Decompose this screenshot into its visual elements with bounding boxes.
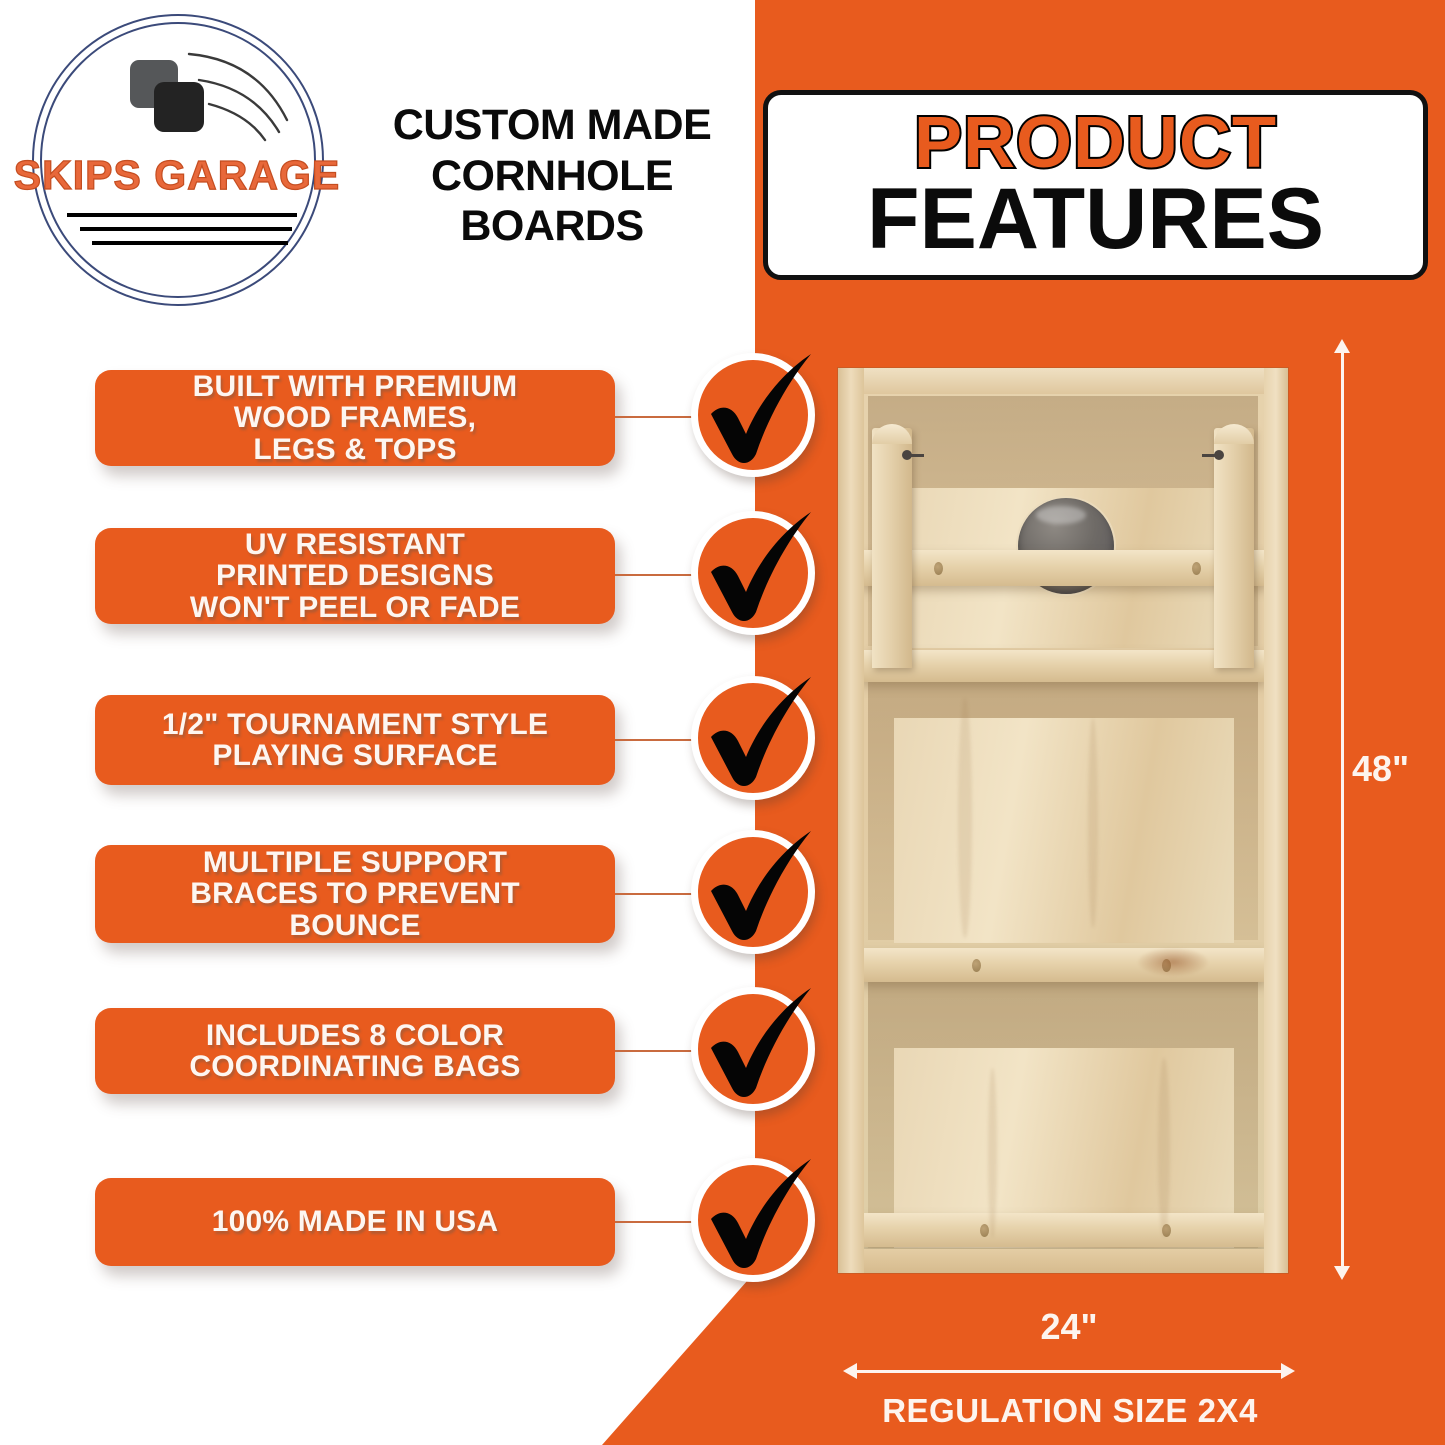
regulation-size-caption: REGULATION SIZE 2X4 [830, 1392, 1310, 1430]
screw [1192, 562, 1201, 575]
check-icon [676, 494, 836, 654]
infographic-canvas: SKIPS GARAGE CUSTOM MADE CORNHOLE BOARDS… [0, 0, 1445, 1445]
logo-rule-3 [92, 241, 288, 245]
screw [934, 562, 943, 575]
leg-bolt-stem [1202, 454, 1216, 457]
feature-check-circle-6 [691, 1158, 815, 1282]
check-icon [676, 1141, 836, 1301]
leg-bolt-stem [910, 454, 924, 457]
check-icon [676, 659, 836, 819]
feature-item-1: BUILT WITH PREMIUM WOOD FRAMES, LEGS & T… [95, 370, 825, 480]
feature-pill-5[interactable]: INCLUDES 8 COLOR COORDINATING BAGS [95, 1008, 615, 1094]
wood-knot [1138, 948, 1208, 976]
support-brace-4 [862, 1213, 1266, 1247]
feature-pill-3[interactable]: 1/2" TOURNAMENT STYLE PLAYING SURFACE [95, 695, 615, 785]
frame-rail-top [838, 368, 1288, 394]
support-brace-1 [862, 550, 1266, 586]
wood-grain [958, 698, 972, 938]
feature-check-circle-3 [691, 676, 815, 800]
logo-rule-1 [67, 213, 297, 217]
logo-rule-2 [80, 227, 292, 231]
feature-label-2: UV RESISTANT PRINTED DESIGNS WON'T PEEL … [190, 529, 520, 623]
check-icon [676, 813, 836, 973]
check-icon [676, 336, 836, 496]
feature-item-3: 1/2" TOURNAMENT STYLE PLAYING SURFACE [95, 695, 825, 805]
folding-leg-right [1214, 428, 1254, 668]
feature-label-5: INCLUDES 8 COLOR COORDINATING BAGS [189, 1020, 520, 1082]
feature-item-6: 100% MADE IN USA [95, 1178, 825, 1288]
wood-grain [988, 1068, 997, 1238]
wood-grain [1158, 1058, 1170, 1238]
cornhole-board-photo [838, 368, 1288, 1273]
feature-check-circle-4 [691, 830, 815, 954]
frame-rail-right [1264, 368, 1288, 1273]
height-dimension-label: 48" [1352, 748, 1409, 790]
feature-label-3: 1/2" TOURNAMENT STYLE PLAYING SURFACE [162, 709, 548, 771]
frame-rail-left [838, 368, 864, 1273]
arrow-down-icon [1334, 1266, 1350, 1280]
feature-label-6: 100% MADE IN USA [212, 1206, 499, 1237]
width-dimension-label: 24" [856, 1306, 1282, 1348]
height-dimension-arrow [1341, 352, 1344, 1267]
support-brace-2 [862, 650, 1266, 682]
product-features-banner: PRODUCT FEATURES [763, 90, 1428, 280]
arrow-left-icon [843, 1363, 857, 1379]
feature-label-1: BUILT WITH PREMIUM WOOD FRAMES, LEGS & T… [193, 371, 518, 465]
banner-line-features: FEATURES [867, 179, 1324, 261]
logo-wordmark: SKIPS GARAGE [12, 152, 342, 199]
feature-pill-2[interactable]: UV RESISTANT PRINTED DESIGNS WON'T PEEL … [95, 528, 615, 624]
feature-pill-4[interactable]: MULTIPLE SUPPORT BRACES TO PREVENT BOUNC… [95, 845, 615, 943]
width-dimension-arrow [856, 1370, 1282, 1373]
feature-label-4: MULTIPLE SUPPORT BRACES TO PREVENT BOUNC… [190, 847, 520, 941]
check-icon [676, 970, 836, 1130]
wood-grain [1088, 718, 1098, 928]
feature-pill-6[interactable]: 100% MADE IN USA [95, 1178, 615, 1266]
screw [980, 1224, 989, 1237]
feature-check-circle-1 [691, 353, 815, 477]
frame-rail-bottom [838, 1249, 1288, 1273]
feature-item-5: INCLUDES 8 COLOR COORDINATING BAGS [95, 1008, 825, 1118]
arrow-up-icon [1334, 339, 1350, 353]
feature-item-4: MULTIPLE SUPPORT BRACES TO PREVENT BOUNC… [95, 845, 825, 955]
feature-pill-1[interactable]: BUILT WITH PREMIUM WOOD FRAMES, LEGS & T… [95, 370, 615, 466]
hole-highlight [1036, 506, 1086, 524]
feature-item-2: UV RESISTANT PRINTED DESIGNS WON'T PEEL … [95, 528, 825, 638]
motion-arcs-icon [187, 48, 297, 148]
banner-line-product: PRODUCT [914, 109, 1277, 177]
page-title: CUSTOM MADE CORNHOLE BOARDS [352, 100, 752, 252]
arrow-right-icon [1281, 1363, 1295, 1379]
folding-leg-left [872, 428, 912, 668]
screw [972, 959, 981, 972]
board-panel-middle [894, 718, 1234, 943]
feature-check-circle-2 [691, 511, 815, 635]
feature-check-circle-5 [691, 987, 815, 1111]
brand-logo: SKIPS GARAGE [12, 8, 342, 308]
